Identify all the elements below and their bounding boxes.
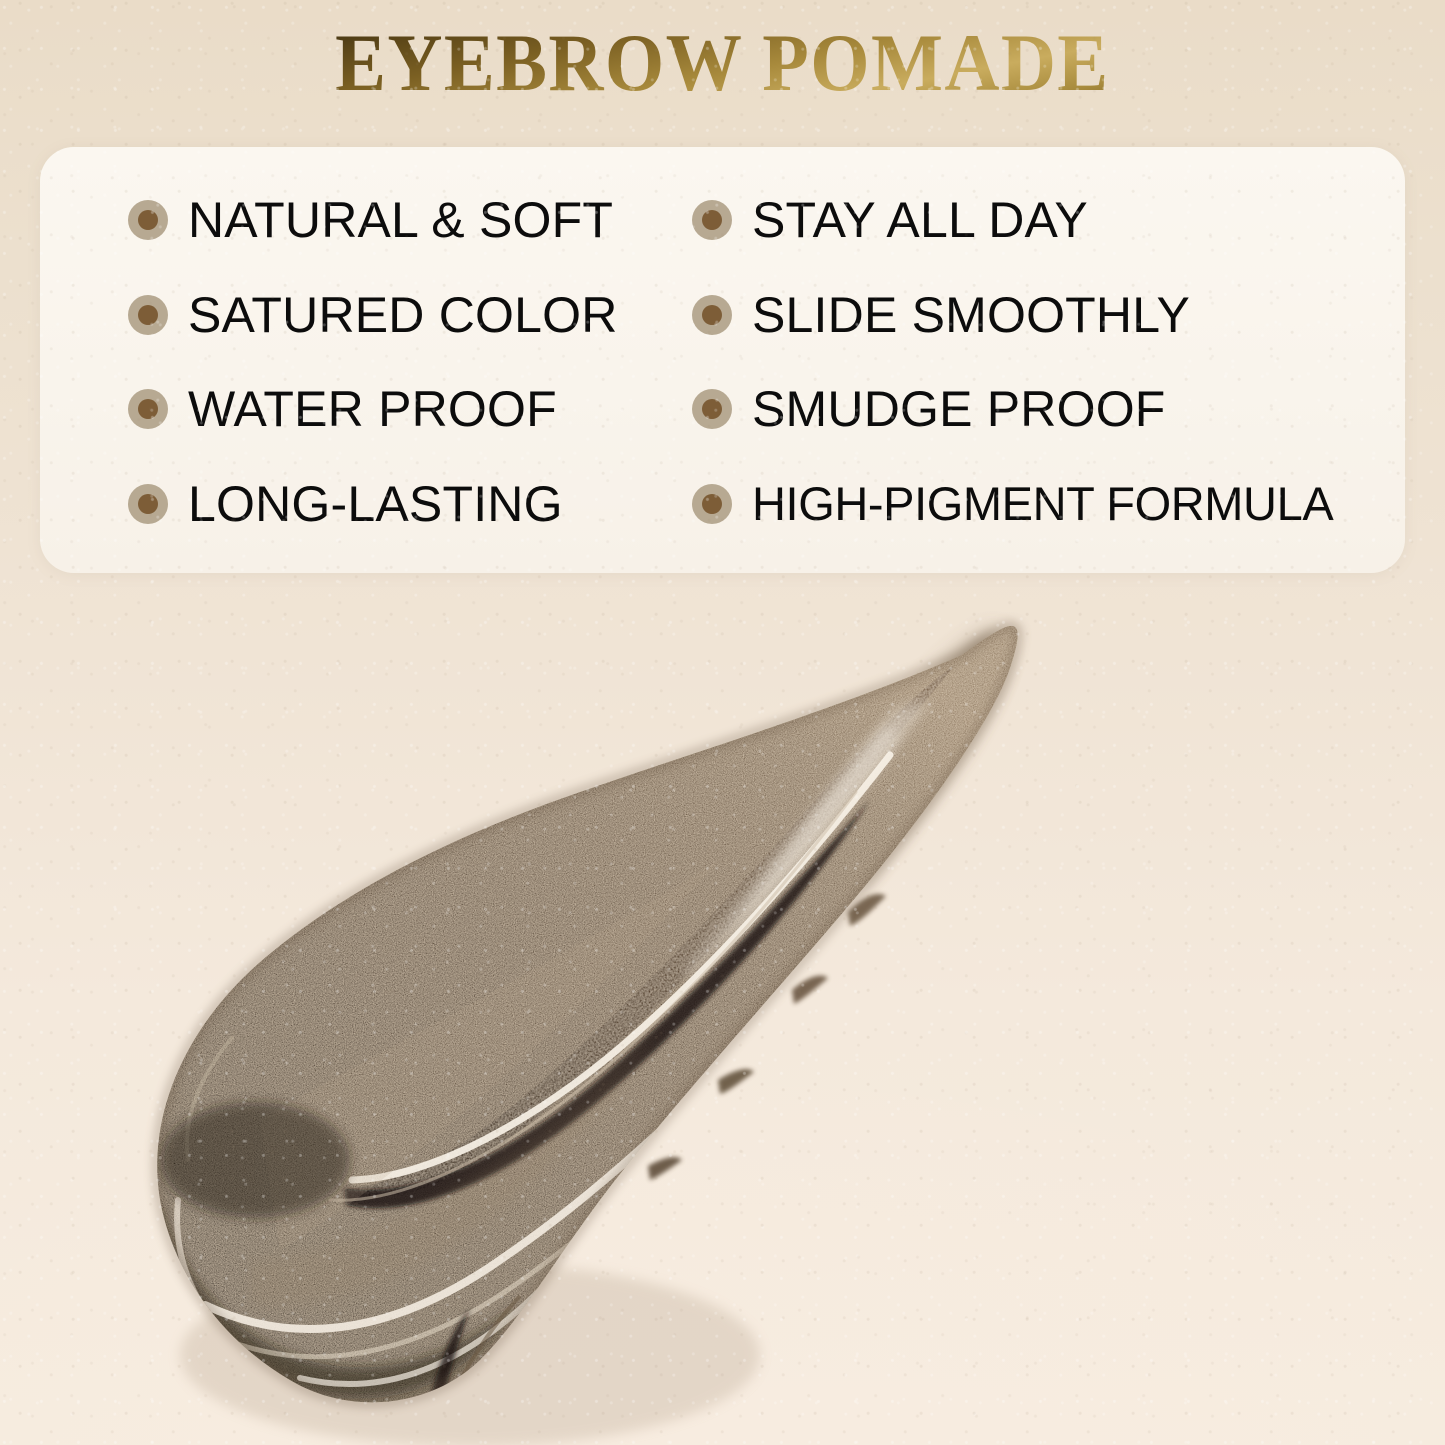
bullet-dot-icon xyxy=(692,389,732,429)
feature-item-long-lasting: LONG-LASTING xyxy=(40,457,680,552)
feature-label: SMUDGE PROOF xyxy=(752,384,1166,434)
feature-item-smudge-proof: SMUDGE PROOF xyxy=(680,362,1385,457)
feature-label: HIGH-PIGMENT FORMULA xyxy=(752,480,1333,527)
feature-label: NATURAL & SOFT xyxy=(188,195,613,245)
product-swatch-stage xyxy=(0,560,1445,1445)
bullet-dot-icon xyxy=(692,484,732,524)
bullet-dot-icon xyxy=(128,200,168,240)
bullet-dot-icon xyxy=(692,200,732,240)
bullet-dot-icon xyxy=(128,389,168,429)
feature-item-natural-and-soft: NATURAL & SOFT xyxy=(40,173,680,268)
feature-item-stay-all-day: STAY ALL DAY xyxy=(680,173,1385,268)
features-panel: NATURAL & SOFT STAY ALL DAY SATURED COLO… xyxy=(40,147,1405,573)
page-title-container: EYEBROW POMADE xyxy=(0,22,1445,104)
feature-label: SATURED COLOR xyxy=(188,290,618,340)
feature-label: STAY ALL DAY xyxy=(752,195,1088,245)
feature-item-slide-smoothly: SLIDE SMOOTHLY xyxy=(680,268,1385,363)
bullet-dot-icon xyxy=(128,484,168,524)
product-marketing-image: EYEBROW POMADE NATURAL & SOFT STAY ALL D… xyxy=(0,0,1445,1445)
bullet-dot-icon xyxy=(692,295,732,335)
eyebrow-pomade-swatch xyxy=(0,560,1445,1445)
feature-label: SLIDE SMOOTHLY xyxy=(752,290,1190,340)
feature-item-satured-color: SATURED COLOR xyxy=(40,268,680,363)
feature-item-water-proof: WATER PROOF xyxy=(40,362,680,457)
feature-item-high-pigment-formula: HIGH-PIGMENT FORMULA xyxy=(680,457,1385,552)
feature-label: LONG-LASTING xyxy=(188,479,563,529)
bullet-dot-icon xyxy=(128,295,168,335)
feature-label: WATER PROOF xyxy=(188,384,557,434)
page-title: EYEBROW POMADE xyxy=(335,22,1109,104)
